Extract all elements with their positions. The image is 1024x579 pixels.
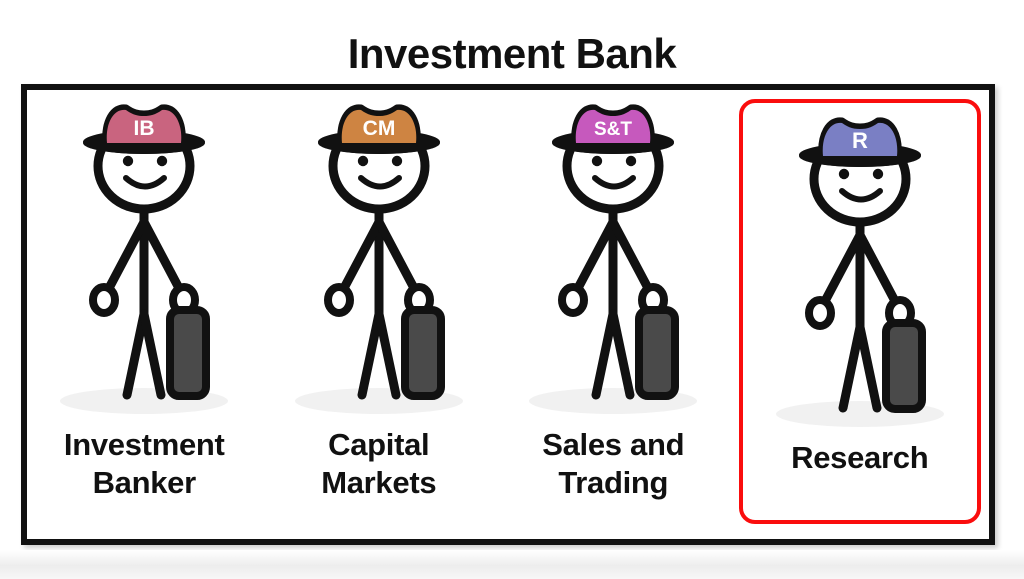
figure-leg-left bbox=[362, 314, 379, 395]
figure-arm-right bbox=[613, 222, 649, 290]
stick-figure-sales-and-trading: S&T bbox=[503, 104, 723, 424]
figure-eye-left bbox=[839, 169, 849, 179]
role-label-research: Research bbox=[791, 439, 928, 477]
stick-figure-investment-banker: IB bbox=[34, 104, 254, 424]
figure-arm-right bbox=[379, 222, 415, 290]
figure-leg-right bbox=[860, 327, 877, 408]
figure-hand-left bbox=[328, 287, 350, 313]
figure-briefcase bbox=[170, 310, 206, 396]
figure-briefcase bbox=[886, 323, 922, 409]
role-column-research[interactable]: R Research bbox=[739, 99, 982, 524]
role-label-capital-markets: Capital Markets bbox=[321, 426, 436, 502]
figure-eye-left bbox=[592, 156, 602, 166]
figure-hand-left bbox=[809, 300, 831, 326]
figure-eye-right bbox=[392, 156, 402, 166]
figure-eye-left bbox=[123, 156, 133, 166]
figure-eye-right bbox=[157, 156, 167, 166]
figure-leg-right bbox=[613, 314, 630, 395]
role-label-investment-banker: Investment Banker bbox=[64, 426, 225, 502]
slide-bottom-edge bbox=[0, 550, 1024, 579]
figure-hat-initials: CM bbox=[362, 117, 395, 140]
role-column-investment-banker[interactable]: IB Investment Banker bbox=[27, 90, 262, 539]
role-column-capital-markets[interactable]: CM Capital Markets bbox=[262, 90, 497, 539]
role-columns: IB Investment Banker bbox=[27, 90, 989, 539]
figure-arm-left bbox=[824, 235, 860, 303]
figure-hat-initials: R bbox=[852, 128, 868, 153]
figure-eye-left bbox=[358, 156, 368, 166]
figure-arm-right bbox=[144, 222, 180, 290]
figure-leg-left bbox=[843, 327, 860, 408]
stick-figure-capital-markets: CM bbox=[269, 104, 489, 424]
page-title: Investment Bank bbox=[0, 33, 1024, 75]
role-label-sales-and-trading: Sales and Trading bbox=[542, 426, 684, 502]
figure-leg-left bbox=[127, 314, 144, 395]
figure-eye-right bbox=[626, 156, 636, 166]
figure-briefcase bbox=[639, 310, 675, 396]
figure-eye-right bbox=[873, 169, 883, 179]
stick-figure-research: R bbox=[750, 117, 970, 437]
figure-hat-initials: S&T bbox=[594, 119, 632, 140]
figure-hand-left bbox=[562, 287, 584, 313]
figure-arm-left bbox=[108, 222, 144, 290]
figure-arm-left bbox=[577, 222, 613, 290]
slide-canvas: Investment Bank bbox=[0, 0, 1024, 579]
figure-hand-left bbox=[93, 287, 115, 313]
figure-arm-left bbox=[343, 222, 379, 290]
figure-hat-initials: IB bbox=[134, 117, 155, 140]
figure-leg-left bbox=[596, 314, 613, 395]
figure-arm-right bbox=[860, 235, 896, 303]
figure-leg-right bbox=[144, 314, 161, 395]
role-column-sales-and-trading[interactable]: S&T Sales and Trading bbox=[496, 90, 731, 539]
figure-leg-right bbox=[379, 314, 396, 395]
figure-briefcase bbox=[405, 310, 441, 396]
